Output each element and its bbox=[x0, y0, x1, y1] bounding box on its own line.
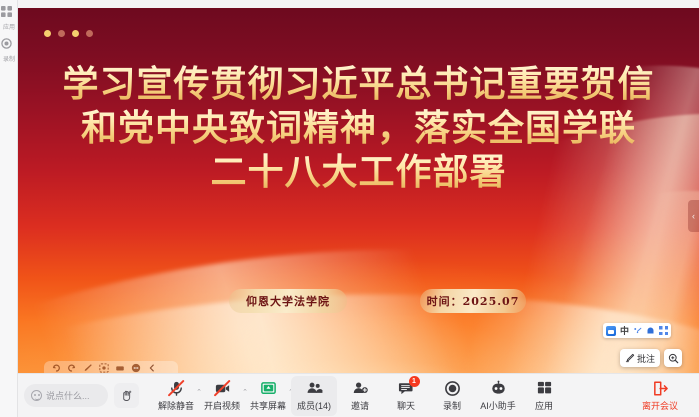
chat-unread-badge: 1 bbox=[409, 376, 420, 387]
say-something-input[interactable]: 说点什么... bbox=[24, 384, 108, 407]
control-chat-label: 聊天 bbox=[397, 399, 415, 412]
decor-glow bbox=[18, 233, 699, 373]
annotate-button[interactable]: 批注 bbox=[620, 349, 660, 367]
meeting-control-bar: ◁ 说点什么... ⌃ 解除静音 bbox=[0, 373, 699, 417]
dot-1 bbox=[44, 30, 51, 37]
pencil-icon bbox=[625, 353, 635, 363]
microphone-muted-icon bbox=[168, 379, 185, 398]
invite-person-icon bbox=[352, 379, 369, 398]
spotlight-icon[interactable] bbox=[98, 363, 109, 374]
control-unmute-label: 解除静音 bbox=[158, 399, 194, 412]
zoom-in-icon bbox=[668, 353, 679, 364]
share-screen-icon bbox=[260, 379, 277, 398]
presentation-slide: 学习宣传贯彻习近平总书记重要贺信 和党中央致词精神，落实全国学联 二十八大工作部… bbox=[18, 8, 699, 373]
raise-hand-button[interactable] bbox=[114, 383, 139, 408]
slide-title-line-3: 二十八大工作部署 bbox=[18, 151, 699, 195]
slide-dot-group bbox=[44, 30, 93, 37]
redo-icon[interactable] bbox=[66, 363, 77, 374]
chat-bubble-icon: 1 bbox=[398, 379, 415, 398]
control-invite-label: 邀请 bbox=[351, 399, 369, 412]
control-start-video-label: 开启视频 bbox=[204, 399, 240, 412]
control-start-video[interactable]: ⌃ 开启视频 bbox=[199, 376, 245, 416]
zoom-in-button[interactable] bbox=[664, 349, 682, 367]
record-icon[interactable] bbox=[1, 38, 17, 54]
control-bar-center: ⌃ 解除静音 ⌃ 开启视频 ⌃ 共享屏幕 bbox=[153, 376, 567, 416]
control-ai-assistant-label: AI小助手 bbox=[480, 399, 516, 412]
slide-title: 学习宣传贯彻习近平总书记重要贺信 和党中央致词精神，落实全国学联 二十八大工作部… bbox=[18, 63, 699, 195]
control-apps[interactable]: 应用 bbox=[521, 376, 567, 416]
dot-4 bbox=[86, 30, 93, 37]
ime-input-toolbar[interactable]: 中 bbox=[603, 323, 671, 338]
slide-organization-pill: 仰恩大学法学院 bbox=[229, 289, 347, 313]
control-share-screen-label: 共享屏幕 bbox=[250, 399, 286, 412]
left-side-panel-strip: 应用 录制 bbox=[0, 0, 18, 417]
sogou-logo-icon[interactable] bbox=[606, 326, 616, 336]
leave-meeting-button[interactable]: 离开会议 bbox=[635, 376, 685, 416]
slide-title-line-2: 和党中央致词精神，落实全国学联 bbox=[18, 107, 699, 151]
more-icon[interactable] bbox=[130, 363, 141, 374]
shared-screen-stage: 学习宣传贯彻习近平总书记重要贺信 和党中央致词精神，落实全国学联 二十八大工作部… bbox=[18, 8, 699, 373]
toolbox-grid-icon[interactable] bbox=[659, 326, 668, 335]
apps-icon[interactable] bbox=[1, 6, 17, 22]
meeting-window: 应用 录制 学习宣传贯彻习近平总书记重要贺信 和党中央致词精神，落实全国学联 bbox=[0, 0, 699, 417]
slide-title-line-1: 学习宣传贯彻习近平总书记重要贺信 bbox=[18, 63, 699, 107]
control-bar-left: ◁ 说点什么... bbox=[0, 383, 139, 408]
control-bar-right: 离开会议 bbox=[635, 376, 699, 416]
apps-grid-icon bbox=[536, 379, 553, 398]
control-record-label: 录制 bbox=[443, 399, 461, 412]
slide-date-pill: 时间：2025.07 bbox=[420, 289, 526, 313]
control-ai-assistant[interactable]: AI小助手 bbox=[475, 376, 521, 416]
annotate-label: 批注 bbox=[637, 352, 655, 365]
control-apps-label: 应用 bbox=[535, 399, 553, 412]
participants-icon bbox=[306, 379, 323, 398]
pinyin-tone-icon[interactable] bbox=[633, 326, 642, 335]
control-participants-label: 成员(14) bbox=[297, 399, 331, 412]
float-tool-group: 批注 bbox=[620, 349, 682, 367]
undo-icon[interactable] bbox=[50, 363, 61, 374]
leave-meeting-label: 离开会议 bbox=[642, 399, 678, 412]
exit-door-icon bbox=[652, 379, 669, 398]
control-chat[interactable]: 1 聊天 bbox=[383, 376, 429, 416]
eraser-icon[interactable] bbox=[114, 363, 125, 374]
slide-annotation-toolbar[interactable] bbox=[44, 361, 178, 373]
ime-mode-label[interactable]: 中 bbox=[620, 324, 629, 337]
panel-collapse-handle[interactable]: ‹ bbox=[688, 200, 699, 232]
record-circle-icon bbox=[444, 379, 461, 398]
control-invite[interactable]: 邀请 bbox=[337, 376, 383, 416]
raise-hand-icon bbox=[120, 389, 133, 402]
control-share-screen[interactable]: ⌃ 共享屏幕 bbox=[245, 376, 291, 416]
say-something-placeholder: 说点什么... bbox=[46, 389, 90, 402]
soft-keyboard-icon[interactable] bbox=[646, 326, 655, 335]
left-strip-label-apps: 应用 bbox=[1, 22, 17, 31]
dot-3 bbox=[72, 30, 79, 37]
collapse-icon[interactable] bbox=[146, 363, 157, 374]
smiley-icon bbox=[31, 390, 42, 401]
control-participants[interactable]: 成员(14) bbox=[291, 376, 337, 416]
pen-icon[interactable] bbox=[82, 363, 93, 374]
left-strip-label-record: 录制 bbox=[1, 54, 17, 63]
control-record[interactable]: 录制 bbox=[429, 376, 475, 416]
dot-2 bbox=[58, 30, 65, 37]
ai-robot-icon bbox=[490, 379, 507, 398]
camera-off-icon bbox=[214, 379, 231, 398]
control-unmute[interactable]: ⌃ 解除静音 bbox=[153, 376, 199, 416]
